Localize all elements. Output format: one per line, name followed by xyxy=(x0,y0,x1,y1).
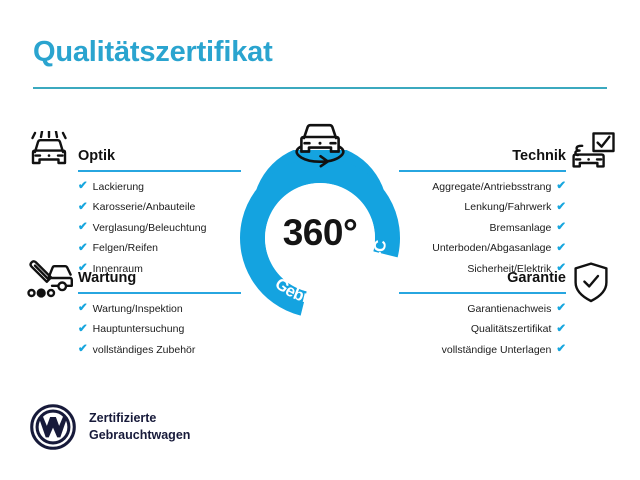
section-wartung: Wartung ✔ Wartung/Inspektion ✔ Hauptunte… xyxy=(78,260,241,365)
list-item-label: vollständige Unterlagen xyxy=(442,345,552,356)
list-item: ✔ Karosserie/Anbauteile xyxy=(78,202,241,214)
list-item-label: Qualitätszertifikat xyxy=(471,324,552,335)
check-icon: ✔ xyxy=(556,181,566,193)
list-item: ✔ Verglasung/Beleuchtung xyxy=(78,222,241,234)
list-item-label: Hauptuntersuchung xyxy=(93,324,185,335)
section-header: Wartung xyxy=(78,260,241,294)
check-icon: ✔ xyxy=(556,344,566,356)
check-icon: ✔ xyxy=(556,222,566,234)
checklist: Garantienachweis ✔ Qualitätszertifikat ✔… xyxy=(399,303,566,356)
page-title: Qualitätszertifikat xyxy=(33,36,273,69)
list-item-label: vollständiges Zubehör xyxy=(93,345,196,356)
check-icon: ✔ xyxy=(78,243,88,255)
section-divider xyxy=(78,170,241,172)
list-item-label: Aggregate/Antriebsstrang xyxy=(432,182,551,193)
car-front-headlights-icon xyxy=(27,131,71,176)
list-item: Bremsanlage ✔ xyxy=(399,222,566,234)
shield-check-icon xyxy=(573,262,609,308)
brand-text: Zertifizierte Gebrauchtwagen xyxy=(89,410,190,444)
certificate-page: Qualitätszertifikat Optik ✔ Lackierung ✔… xyxy=(0,0,640,480)
section-divider xyxy=(399,170,566,172)
wrench-car-service-icon xyxy=(25,258,73,305)
badge-360-gebrauchtwagen-check: Gebrauchtwagen-Check 360° xyxy=(232,150,408,326)
car-rotation-360-icon xyxy=(286,114,354,181)
section-header: Technik xyxy=(399,138,566,172)
list-item: ✔ Wartung/Inspektion xyxy=(78,303,241,315)
list-item-label: Bremsanlage xyxy=(489,223,551,234)
list-item: ✔ Felgen/Reifen xyxy=(78,243,241,255)
check-icon: ✔ xyxy=(556,202,566,214)
car-checkbox-icon xyxy=(569,132,615,177)
list-item: ✔ Lackierung xyxy=(78,181,241,193)
list-item-label: Karosserie/Anbauteile xyxy=(93,202,196,213)
section-header: Garantie xyxy=(399,260,566,294)
section-garantie: Garantie Garantienachweis ✔ Qualitätszer… xyxy=(399,260,566,365)
list-item-label: Lackierung xyxy=(93,182,144,193)
section-header: Optik xyxy=(78,138,241,172)
section-title: Garantie xyxy=(507,270,566,286)
list-item-label: Felgen/Reifen xyxy=(93,243,158,254)
list-item: ✔ vollständiges Zubehör xyxy=(78,344,241,356)
check-icon: ✔ xyxy=(78,222,88,234)
list-item: ✔ Hauptuntersuchung xyxy=(78,324,241,336)
section-title: Technik xyxy=(512,148,566,164)
list-item: Garantienachweis ✔ xyxy=(399,303,566,315)
list-item-label: Wartung/Inspektion xyxy=(93,304,183,315)
check-icon: ✔ xyxy=(556,243,566,255)
section-divider xyxy=(78,292,241,294)
footer-brand: Zertifizierte Gebrauchtwagen xyxy=(30,404,190,450)
list-item: Aggregate/Antriebsstrang ✔ xyxy=(399,181,566,193)
list-item-label: Verglasung/Beleuchtung xyxy=(93,223,207,234)
section-title: Optik xyxy=(78,148,115,164)
list-item-label: Unterboden/Abgasanlage xyxy=(432,243,551,254)
section-title: Wartung xyxy=(78,270,136,286)
list-item: Unterboden/Abgasanlage ✔ xyxy=(399,243,566,255)
list-item-label: Garantienachweis xyxy=(467,304,551,315)
badge-center-label: 360° xyxy=(232,212,408,254)
check-icon: ✔ xyxy=(78,344,88,356)
vw-logo xyxy=(30,404,76,450)
brand-line-1: Zertifizierte xyxy=(89,410,190,427)
check-icon: ✔ xyxy=(78,202,88,214)
check-icon: ✔ xyxy=(78,181,88,193)
section-divider xyxy=(399,292,566,294)
check-icon: ✔ xyxy=(78,303,88,315)
checklist: ✔ Wartung/Inspektion ✔ Hauptuntersuchung… xyxy=(78,303,241,356)
list-item: Lenkung/Fahrwerk ✔ xyxy=(399,202,566,214)
check-icon: ✔ xyxy=(556,303,566,315)
list-item: vollständige Unterlagen ✔ xyxy=(399,344,566,356)
check-icon: ✔ xyxy=(78,324,88,336)
title-divider xyxy=(33,87,607,89)
list-item: Qualitätszertifikat ✔ xyxy=(399,324,566,336)
brand-line-2: Gebrauchtwagen xyxy=(89,427,190,444)
check-icon: ✔ xyxy=(556,324,566,336)
list-item-label: Lenkung/Fahrwerk xyxy=(464,202,551,213)
